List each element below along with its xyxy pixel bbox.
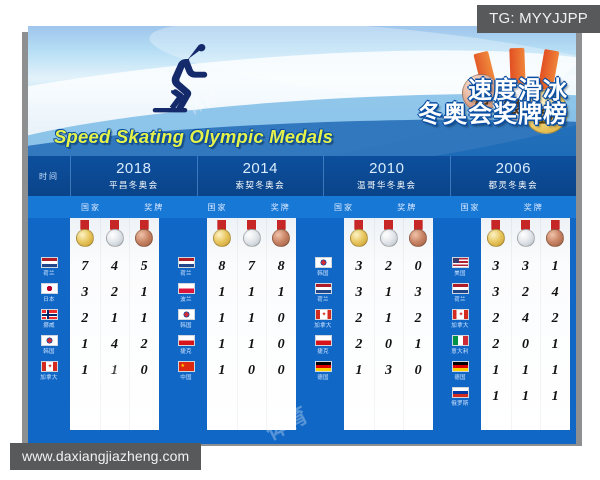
silver-count: 1 [100, 363, 130, 379]
medal-disc [487, 229, 505, 247]
silver-count: 1 [100, 311, 130, 327]
table-row: 110 [207, 332, 296, 358]
gold-count: 1 [344, 363, 374, 379]
bronze-count: 4 [540, 285, 570, 301]
silver-medal-icon [237, 219, 267, 253]
bronze-count: 2 [403, 311, 433, 327]
flag-canada-icon: ✦ [452, 309, 469, 320]
silver-count: 1 [237, 337, 267, 353]
bronze-count: 8 [266, 259, 296, 275]
bronze-count: 0 [129, 363, 159, 379]
header-time-label: 时间 [28, 156, 71, 196]
country-list: 韩国荷兰✦加拿大捷克德国 [302, 218, 344, 444]
gold-medal-icon [70, 219, 100, 253]
medal-disc [213, 229, 231, 247]
table-row: 211 [70, 306, 159, 332]
country-name: 加拿大 [451, 321, 468, 329]
flag-czech-icon [315, 335, 332, 346]
bronze-count: 1 [540, 389, 570, 405]
gold-count: 1 [70, 363, 100, 379]
header-medal-label: 奖牌 [112, 202, 197, 213]
title-cn-line2: 冬奥会奖牌榜 [418, 102, 568, 126]
bronze-medal-icon [540, 219, 570, 253]
silver-count: 2 [374, 259, 404, 275]
country-cell: ✦加拿大 [28, 358, 70, 384]
medal-column-2010: 韩国荷兰✦加拿大捷克德国320313212201130 [302, 218, 439, 444]
page-root: 铜 银 金 速度滑冰 冬奥会奖牌榜 体育 Speed Skating Olymp… [0, 0, 600, 480]
bronze-count: 0 [266, 337, 296, 353]
subheader-group: 国家 奖牌 [450, 196, 577, 218]
year-number: 2018 [116, 161, 151, 177]
country-name: 荷兰 [317, 295, 329, 303]
gold-count: 1 [207, 311, 237, 327]
country-name: 捷克 [180, 347, 192, 355]
flag-korea-icon [41, 335, 58, 346]
silver-count: 4 [511, 311, 541, 327]
medal-poster: 铜 银 金 速度滑冰 冬奥会奖牌榜 体育 Speed Skating Olymp… [28, 26, 576, 444]
flag-korea-icon [315, 257, 332, 268]
country-cell: 韩国 [165, 306, 207, 332]
year-column-header: 2010 温哥华冬奥会 [324, 156, 451, 196]
country-name: 美国 [454, 269, 466, 277]
flag-germany-icon [315, 361, 332, 372]
country-cell: 俄罗斯 [439, 384, 481, 410]
flag-canada-icon: ✦ [41, 361, 58, 372]
table-row: 142 [70, 332, 159, 358]
silver-count: 0 [237, 363, 267, 379]
country-name: 德国 [317, 373, 329, 381]
bronze-count: 1 [266, 285, 296, 301]
title-cn-line1: 速度滑冰 [418, 78, 568, 102]
bronze-count: 1 [129, 285, 159, 301]
table-row: 130 [344, 358, 433, 384]
flag-russia-icon [452, 387, 469, 398]
header-country-label: 国家 [450, 202, 492, 213]
games-name: 索契冬奥会 [235, 179, 285, 191]
table-row: 110 [207, 306, 296, 332]
bronze-count: 1 [403, 337, 433, 353]
subheader-group: 国家 奖牌 [70, 196, 197, 218]
games-name: 平昌冬奥会 [109, 179, 159, 191]
gold-count: 3 [344, 259, 374, 275]
gold-count: 3 [70, 285, 100, 301]
table-row: 201 [481, 332, 570, 358]
gold-count: 3 [481, 259, 511, 275]
header-country-label: 国家 [70, 202, 112, 213]
gold-count: 1 [207, 285, 237, 301]
country-cell: ✦加拿大 [302, 306, 344, 332]
country-name: 荷兰 [454, 295, 466, 303]
gold-count: 2 [481, 337, 511, 353]
table-row: 212 [344, 306, 433, 332]
country-name: 加拿大 [314, 321, 331, 329]
gold-count: 1 [207, 363, 237, 379]
silver-count: 1 [511, 389, 541, 405]
gold-count: 8 [207, 259, 237, 275]
header-country-label: 国家 [197, 202, 239, 213]
country-name: 日本 [43, 295, 55, 303]
year-number: 2010 [369, 161, 404, 177]
flag-korea-icon [178, 309, 195, 320]
table-row: 100 [207, 358, 296, 384]
flag-poland-icon [178, 283, 195, 294]
silver-count: 4 [100, 337, 130, 353]
poster-banner: 铜 银 金 速度滑冰 冬奥会奖牌榜 体育 Speed Skating Olymp… [28, 26, 576, 156]
medal-icon-header [207, 218, 296, 254]
bronze-count: 0 [403, 363, 433, 379]
country-name: 加拿大 [40, 373, 57, 381]
country-name: 意大利 [451, 347, 468, 355]
medal-disc [546, 229, 564, 247]
gold-medal-icon [344, 219, 374, 253]
country-list: 美国荷兰✦加拿大意大利德国俄罗斯 [439, 218, 481, 444]
bronze-count: 2 [129, 337, 159, 353]
medal-disc [106, 229, 124, 247]
country-cell: 荷兰 [165, 254, 207, 280]
country-cell: 德国 [439, 358, 481, 384]
table-columns: 荷兰日本挪威韩国✦加拿大745321211142110荷兰波兰韩国捷克★中国87… [28, 218, 576, 444]
year-number: 2014 [243, 161, 278, 177]
country-cell: 荷兰 [28, 254, 70, 280]
flag-china-icon: ★ [178, 361, 195, 372]
silver-count: 1 [374, 285, 404, 301]
flag-italy-icon [452, 335, 469, 346]
bronze-count: 1 [540, 363, 570, 379]
poster-title-chinese: 速度滑冰 冬奥会奖牌榜 [418, 78, 568, 127]
gold-count: 2 [70, 311, 100, 327]
gold-count: 7 [70, 259, 100, 275]
flag-canada-icon: ✦ [315, 309, 332, 320]
gold-medal-icon [481, 219, 511, 253]
silver-count: 1 [511, 363, 541, 379]
table-year-header-row: 时间 2018 平昌冬奥会 2014 索契冬奥会 2010 温哥华冬奥会 200… [28, 156, 576, 196]
gold-medal-icon [207, 219, 237, 253]
silver-count: 1 [237, 311, 267, 327]
country-name: 韩国 [180, 321, 192, 329]
bronze-count: 0 [266, 311, 296, 327]
table-row: 201 [344, 332, 433, 358]
silver-count: 4 [100, 259, 130, 275]
telegram-tag-badge: TG: MYYJJPP [477, 5, 600, 33]
games-name: 都灵冬奥会 [488, 179, 538, 191]
medal-column-2014: 荷兰波兰韩国捷克★中国878111110110100 [165, 218, 302, 444]
medal-icon-header [481, 218, 570, 254]
table-row: 111 [481, 384, 570, 410]
bronze-count: 3 [403, 285, 433, 301]
flag-japan-icon [41, 283, 58, 294]
gold-count: 2 [344, 311, 374, 327]
country-cell: 日本 [28, 280, 70, 306]
poster-title-english: Speed Skating Olympic Medals [54, 126, 333, 148]
silver-medal-icon [374, 219, 404, 253]
medal-values-panel: 320313212201130 [344, 218, 433, 430]
country-name: 韩国 [317, 269, 329, 277]
country-name: 俄罗斯 [451, 399, 468, 407]
bronze-medal-icon [403, 219, 433, 253]
table-row: 111 [207, 280, 296, 306]
silver-count: 3 [511, 259, 541, 275]
medal-disc [350, 229, 368, 247]
table-subheader-row: . 国家 奖牌 国家 奖牌 国家 奖牌 国家 奖牌 [28, 196, 576, 218]
table-row: 110 [70, 358, 159, 384]
gold-count: 3 [481, 285, 511, 301]
year-column-header: 2006 都灵冬奥会 [451, 156, 577, 196]
country-cell: 意大利 [439, 332, 481, 358]
table-row: 321 [70, 280, 159, 306]
medal-values-panel: 878111110110100 [207, 218, 296, 430]
bronze-count: 1 [129, 311, 159, 327]
header-medal-label: 奖牌 [365, 202, 450, 213]
bronze-count: 5 [129, 259, 159, 275]
medal-disc [517, 229, 535, 247]
gold-count: 2 [481, 311, 511, 327]
silver-count: 0 [374, 337, 404, 353]
flag-czech-icon [178, 335, 195, 346]
silver-count: 7 [237, 259, 267, 275]
year-number: 2006 [496, 161, 531, 177]
medal-values-panel: 745321211142110 [70, 218, 159, 430]
table-row: 745 [70, 254, 159, 280]
gold-count: 1 [207, 337, 237, 353]
medal-icon-header [70, 218, 159, 254]
table-row: 242 [481, 306, 570, 332]
medal-column-2018: 荷兰日本挪威韩国✦加拿大745321211142110 [28, 218, 165, 444]
country-name: 荷兰 [180, 269, 192, 277]
header-medal-label: 奖牌 [492, 202, 577, 213]
table-row: 331 [481, 254, 570, 280]
silver-medal-icon [100, 219, 130, 253]
country-name: 荷兰 [43, 269, 55, 277]
subheader-group: 国家 奖牌 [197, 196, 324, 218]
silver-count: 3 [374, 363, 404, 379]
country-cell: 挪威 [28, 306, 70, 332]
flag-netherlands-icon [178, 257, 195, 268]
table-row: 111 [481, 358, 570, 384]
country-cell: 荷兰 [302, 280, 344, 306]
flag-usa-icon [452, 257, 469, 268]
poster-frame-right [576, 32, 582, 444]
year-column-header: 2014 索契冬奥会 [198, 156, 325, 196]
header-medal-label: 奖牌 [239, 202, 324, 213]
medal-disc [76, 229, 94, 247]
table-row: 324 [481, 280, 570, 306]
country-cell: 捷克 [302, 332, 344, 358]
medal-table: 时间 2018 平昌冬奥会 2014 索契冬奥会 2010 温哥华冬奥会 200… [28, 156, 576, 444]
country-name: 捷克 [317, 347, 329, 355]
medal-disc [272, 229, 290, 247]
medal-disc [135, 229, 153, 247]
silver-count: 1 [237, 285, 267, 301]
subheader-group: 国家 奖牌 [323, 196, 450, 218]
country-cell: 韩国 [302, 254, 344, 280]
bronze-count: 0 [403, 259, 433, 275]
gold-count: 1 [481, 389, 511, 405]
country-cell: 韩国 [28, 332, 70, 358]
flag-germany-icon [452, 361, 469, 372]
gold-count: 1 [70, 337, 100, 353]
year-column-header: 2018 平昌冬奥会 [71, 156, 198, 196]
speed-skater-icon [146, 42, 218, 118]
country-name: 中国 [180, 373, 192, 381]
table-row: 313 [344, 280, 433, 306]
country-cell: 波兰 [165, 280, 207, 306]
medal-disc [243, 229, 261, 247]
silver-count: 2 [100, 285, 130, 301]
bronze-medal-icon [129, 219, 159, 253]
gold-count: 3 [344, 285, 374, 301]
country-name: 德国 [454, 373, 466, 381]
medal-column-2006: 美国荷兰✦加拿大意大利德国俄罗斯331324242201111111 [439, 218, 576, 444]
bronze-medal-icon [266, 219, 296, 253]
country-list: 荷兰日本挪威韩国✦加拿大 [28, 218, 70, 444]
country-cell: ★中国 [165, 358, 207, 384]
country-cell: ✦加拿大 [439, 306, 481, 332]
silver-count: 1 [374, 311, 404, 327]
gold-count: 1 [481, 363, 511, 379]
country-name: 波兰 [180, 295, 192, 303]
country-cell: 德国 [302, 358, 344, 384]
medal-icon-header [344, 218, 433, 254]
country-name: 挪威 [43, 321, 55, 329]
bronze-count: 2 [540, 311, 570, 327]
bronze-count: 1 [540, 337, 570, 353]
flag-netherlands-icon [41, 257, 58, 268]
silver-count: 2 [511, 285, 541, 301]
table-row: 878 [207, 254, 296, 280]
flag-netherlands-icon [452, 283, 469, 294]
header-country-label: 国家 [323, 202, 365, 213]
country-name: 韩国 [43, 347, 55, 355]
medal-disc [380, 229, 398, 247]
table-row: 320 [344, 254, 433, 280]
country-cell: 荷兰 [439, 280, 481, 306]
gold-count: 2 [344, 337, 374, 353]
medal-values-panel: 331324242201111111 [481, 218, 570, 430]
country-list: 荷兰波兰韩国捷克★中国 [165, 218, 207, 444]
bronze-count: 0 [266, 363, 296, 379]
bronze-count: 1 [540, 259, 570, 275]
silver-medal-icon [511, 219, 541, 253]
website-url-badge: www.daxiangjiazheng.com [10, 443, 201, 470]
medal-disc [409, 229, 427, 247]
flag-netherlands-icon [315, 283, 332, 294]
flag-norway-icon [41, 309, 58, 320]
games-name: 温哥华冬奥会 [357, 179, 416, 191]
country-cell: 捷克 [165, 332, 207, 358]
silver-count: 0 [511, 337, 541, 353]
country-cell: 美国 [439, 254, 481, 280]
